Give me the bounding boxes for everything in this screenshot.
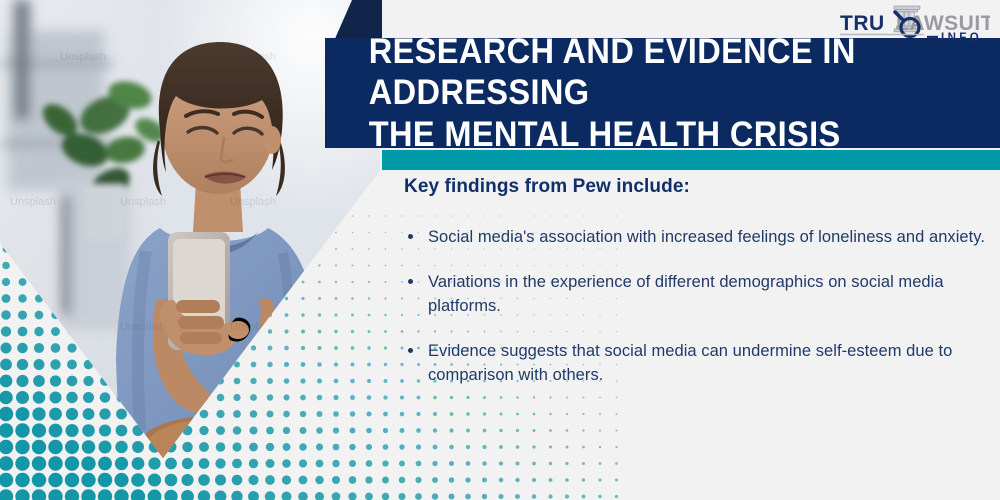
list-item-text: Evidence suggests that social media can … — [428, 342, 952, 383]
list-item-text: Variations in the experience of differen… — [428, 273, 944, 314]
svg-text:Unsplash: Unsplash — [230, 196, 276, 208]
list-item: Variations in the experience of differen… — [400, 271, 1000, 318]
page-title: RESEARCH AND EVIDENCE IN ADDRESSING THE … — [325, 31, 953, 155]
svg-text:Unsplash: Unsplash — [10, 196, 56, 208]
bullet-icon — [408, 348, 413, 353]
logo-text-info: INFO — [941, 32, 982, 44]
logo-text-tru: TRU — [840, 12, 885, 35]
list-item: Social media's association with increase… — [400, 226, 1000, 249]
svg-text:Unsplash: Unsplash — [230, 51, 276, 63]
content-panel: Key findings from Pew include: Social me… — [400, 176, 1000, 409]
findings-list: Social media's association with increase… — [400, 226, 1000, 387]
svg-text:Unsplash: Unsplash — [60, 51, 106, 63]
infographic-canvas: Unsplash Unsplash Unsplash Unsplash Unsp… — [0, 0, 1000, 500]
svg-text:Unsplash: Unsplash — [120, 196, 166, 208]
list-item: Evidence suggests that social media can … — [400, 340, 1000, 387]
title-banner: RESEARCH AND EVIDENCE IN ADDRESSING THE … — [325, 38, 1000, 148]
tru-lawsuit-info-logo[interactable]: TRU LAWSUIT INFO — [838, 4, 990, 44]
svg-text:Unsplash: Unsplash — [120, 321, 166, 333]
subheading: Key findings from Pew include: — [400, 176, 1000, 198]
list-item-text: Social media's association with increase… — [428, 228, 985, 246]
bullet-icon — [408, 234, 413, 239]
bullet-icon — [408, 279, 413, 284]
teal-accent-bar — [382, 150, 1000, 170]
